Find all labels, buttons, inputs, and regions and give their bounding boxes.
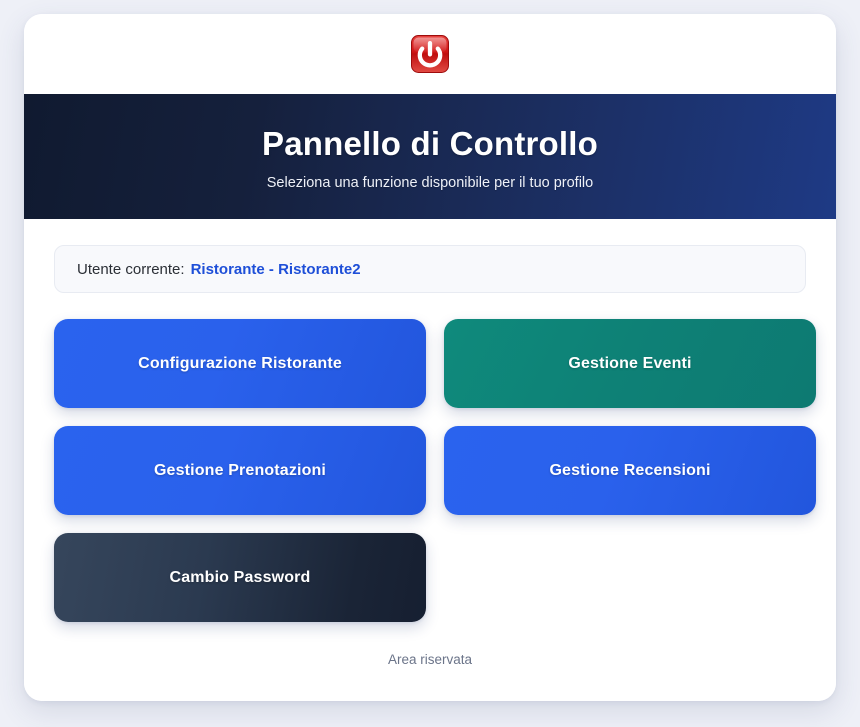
power-button-icon [410, 34, 450, 74]
gestione-recensioni-button[interactable]: Gestione Recensioni [444, 426, 816, 515]
current-user-value: Ristorante - Ristorante2 [191, 261, 361, 278]
gestione-prenotazioni-button[interactable]: Gestione Prenotazioni [54, 426, 426, 515]
footer-text: Area riservata [388, 652, 472, 667]
cambio-password-button[interactable]: Cambio Password [54, 533, 426, 622]
control-panel-card: Pannello di Controllo Seleziona una funz… [24, 14, 836, 701]
logo-strip [24, 14, 836, 94]
current-user-label: Utente corrente: [77, 261, 185, 278]
gestione-eventi-button[interactable]: Gestione Eventi [444, 319, 816, 408]
current-user-bar: Utente corrente: Ristorante - Ristorante… [54, 245, 806, 293]
card-footer: Area riservata [54, 622, 806, 701]
page-wrapper: Pannello di Controllo Seleziona una funz… [0, 0, 860, 727]
page-subtitle: Seleziona una funzione disponibile per i… [267, 175, 593, 191]
card-body: Utente corrente: Ristorante - Ristorante… [24, 219, 836, 701]
header-banner: Pannello di Controllo Seleziona una funz… [24, 94, 836, 219]
action-button-grid: Configurazione Ristorante Gestione Event… [54, 319, 806, 622]
page-title: Pannello di Controllo [262, 126, 598, 162]
configurazione-ristorante-button[interactable]: Configurazione Ristorante [54, 319, 426, 408]
